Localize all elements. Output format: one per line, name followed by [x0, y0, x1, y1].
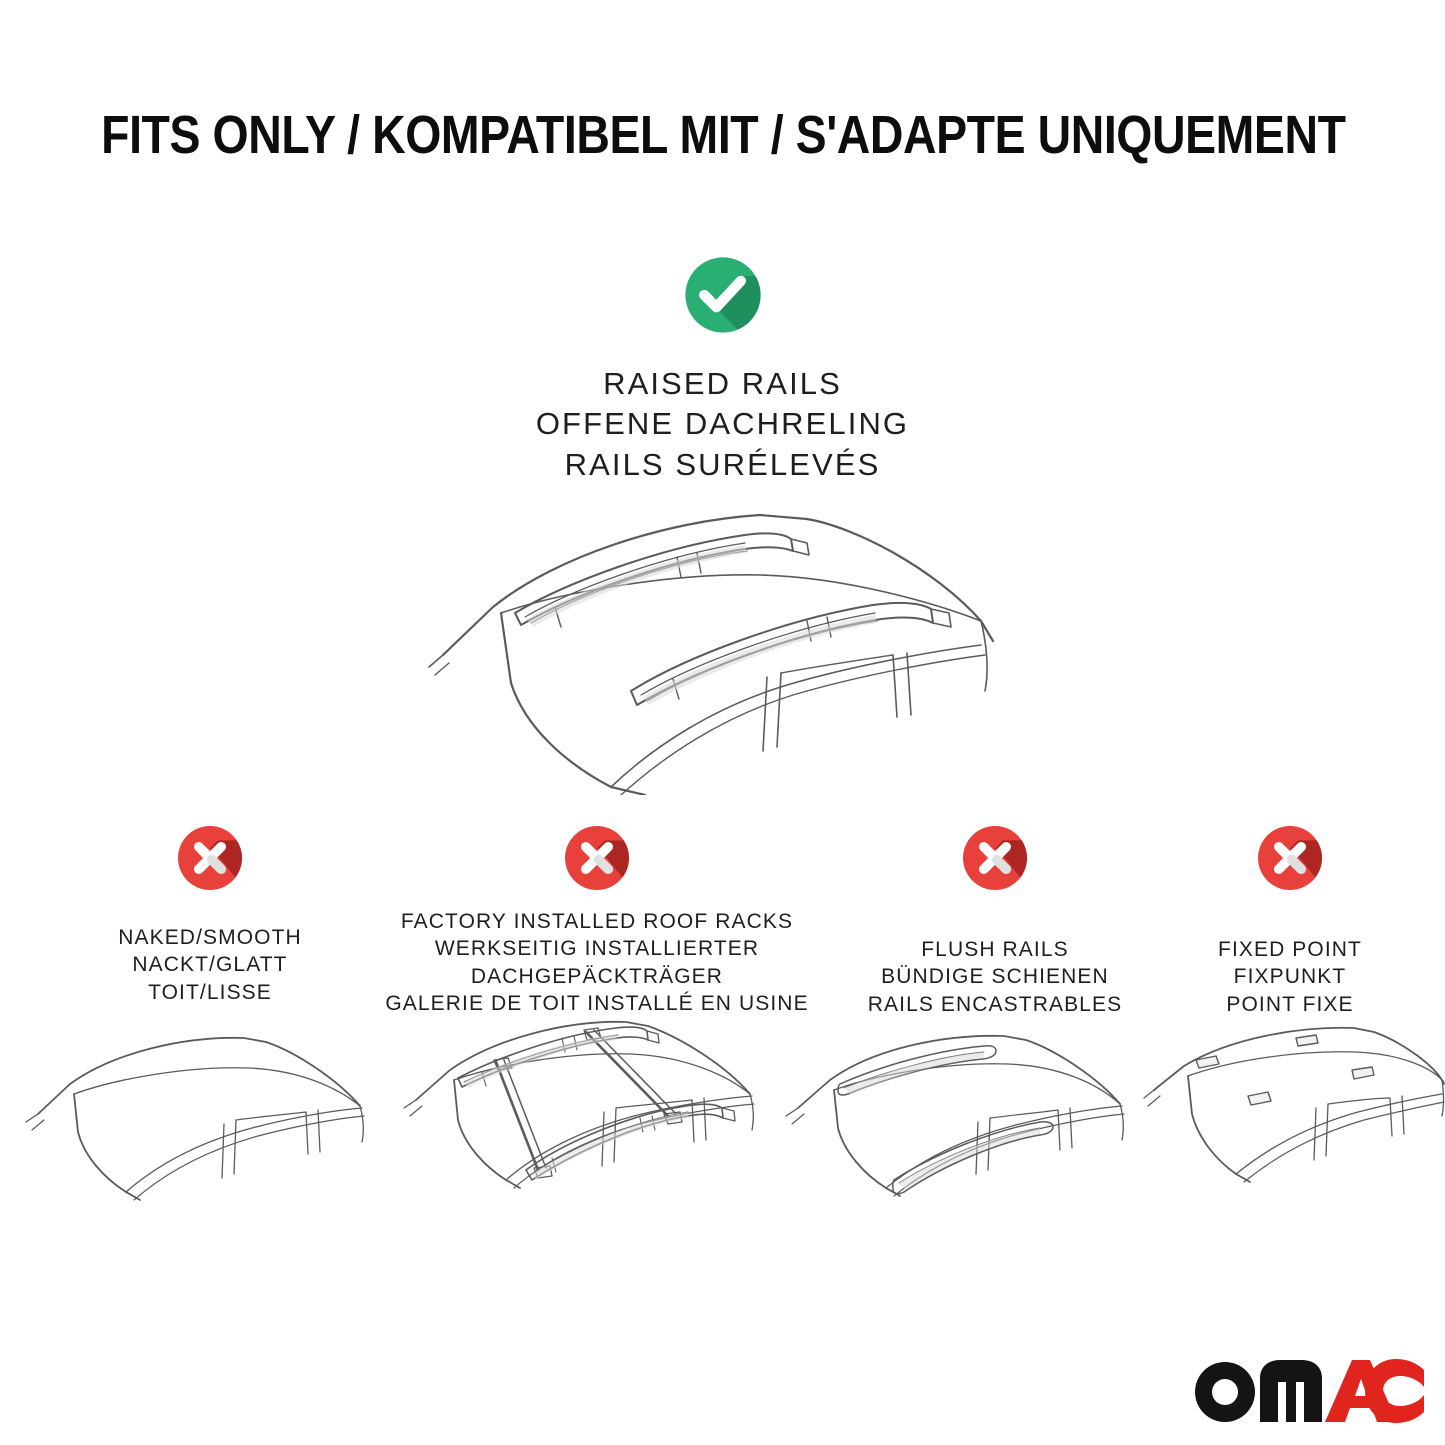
label-en: NAKED/SMOOTH [60, 924, 360, 951]
car-roof-raised-rails-illustration [415, 495, 1015, 795]
x-circle-icon [955, 818, 1035, 898]
incompatible-factory-roof-racks: FACTORY INSTALLED ROOF RACKS WERKSEITIG … [372, 818, 822, 1017]
car-roof-factory-roof-racks-illustration [400, 1000, 775, 1255]
incompatible-fixed-point: FIXED POINT FIXPUNKT POINT FIXE [1160, 818, 1420, 1018]
omac-logo-letter-c [1365, 1359, 1424, 1423]
car-roof-naked-smooth-illustration [18, 1022, 378, 1252]
label-de: NACKT/GLATT [60, 951, 360, 978]
car-roof-flush-rails-illustration [778, 1022, 1138, 1252]
x-circle-icon [557, 818, 637, 898]
label-en: FACTORY INSTALLED ROOF RACKS [372, 908, 822, 935]
compatible-section: RAISED RAILS OFFENE DACHRELING RAILS SUR… [0, 248, 1445, 485]
label-en: FIXED POINT [1160, 936, 1420, 963]
incompatible-labels: NAKED/SMOOTH NACKT/GLATT TOIT/LISSE [60, 924, 360, 1006]
page-title: FITS ONLY / KOMPATIBEL MIT / S'ADAPTE UN… [101, 104, 1344, 166]
label-de-1: WERKSEITIG INSTALLIERTER [372, 935, 822, 962]
omac-logo-letter-o [1195, 1362, 1255, 1422]
omac-logo [1192, 1352, 1424, 1426]
check-circle-icon [676, 248, 770, 342]
label-fr: POINT FIXE [1160, 991, 1420, 1018]
label-de: FIXPUNKT [1160, 963, 1420, 990]
compatible-labels: RAISED RAILS OFFENE DACHRELING RAILS SUR… [0, 364, 1445, 485]
label-fr: RAILS ENCASTRABLES [845, 991, 1145, 1018]
compatible-label-de: OFFENE DACHRELING [0, 404, 1445, 444]
compatible-label-fr: RAILS SURÉLEVÉS [0, 445, 1445, 485]
label-de: BÜNDIGE SCHIENEN [845, 963, 1145, 990]
incompatible-labels: FLUSH RAILS BÜNDIGE SCHIENEN RAILS ENCAS… [845, 936, 1145, 1018]
incompatible-labels: FIXED POINT FIXPUNKT POINT FIXE [1160, 936, 1420, 1018]
omac-logo-letter-m [1260, 1360, 1322, 1422]
incompatible-flush-rails: FLUSH RAILS BÜNDIGE SCHIENEN RAILS ENCAS… [845, 818, 1145, 1018]
compatible-label-en: RAISED RAILS [0, 364, 1445, 404]
incompatible-naked-smooth: NAKED/SMOOTH NACKT/GLATT TOIT/LISSE [60, 818, 360, 1006]
label-fr: TOIT/LISSE [60, 979, 360, 1006]
x-circle-icon [170, 818, 250, 898]
car-roof-fixed-point-illustration [1140, 1022, 1445, 1252]
x-circle-icon [1250, 818, 1330, 898]
label-en: FLUSH RAILS [845, 936, 1145, 963]
label-de-2: DACHGEPÄCKTRÄGER [372, 963, 822, 990]
